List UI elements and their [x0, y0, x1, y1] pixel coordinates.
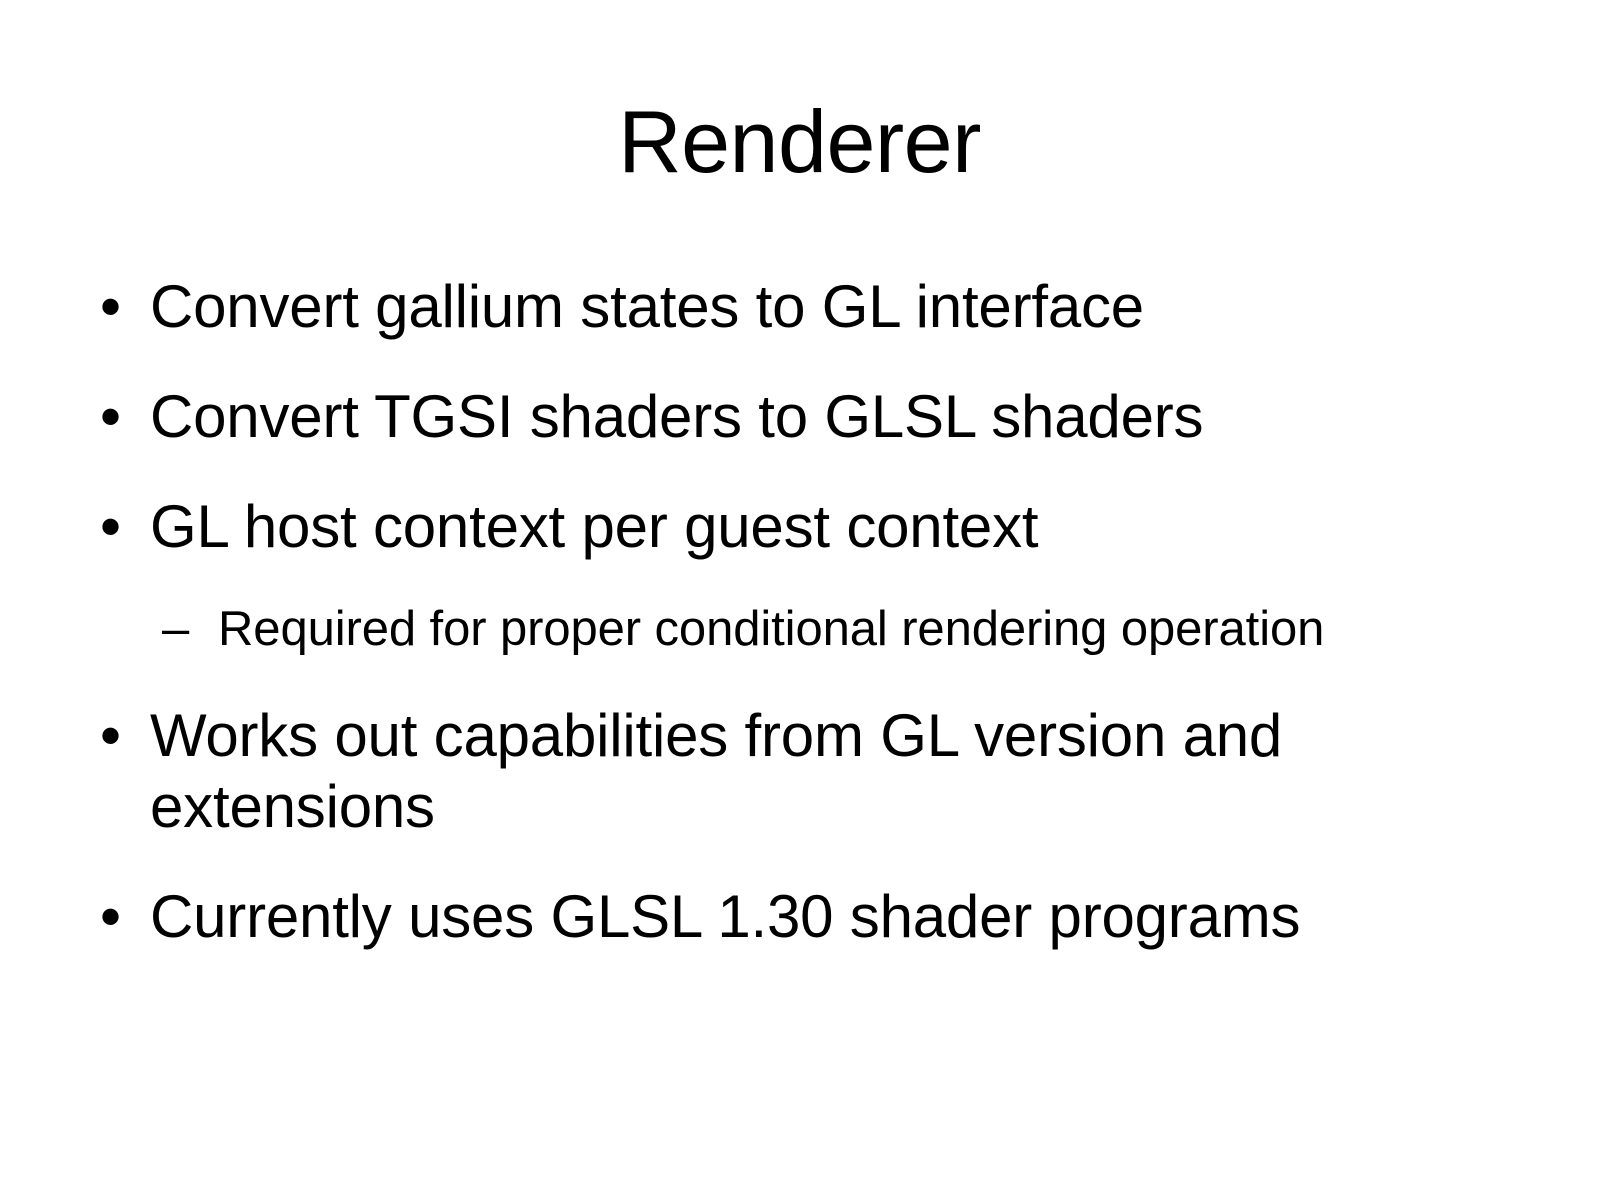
list-item-label: Convert TGSI shaders to GLSL shaders [150, 382, 1520, 453]
list-item: • GL host context per guest context [90, 492, 1520, 563]
bullet-marker-icon: • [100, 882, 140, 953]
list-item-label: Convert gallium states to GL interface [150, 272, 1520, 343]
bullet-marker-icon: • [100, 701, 140, 772]
bullet-marker-icon: • [100, 492, 140, 563]
list-item-label: GL host context per guest context [150, 492, 1520, 563]
bullet-marker-icon: • [100, 382, 140, 453]
list-item-label: Currently uses GLSL 1.30 shader programs [150, 882, 1520, 953]
sub-list-item: – Required for proper conditional render… [90, 601, 1520, 659]
list-item-label: Works out capabilities from GL version a… [150, 701, 1520, 843]
list-item: • Works out capabilities from GL version… [90, 701, 1520, 843]
page-title: Renderer [0, 96, 1599, 188]
dash-marker-icon: – [162, 601, 202, 659]
bullet-marker-icon: • [100, 272, 140, 343]
bullet-list: • Convert gallium states to GL interface… [90, 272, 1520, 992]
list-item: • Convert gallium states to GL interface [90, 272, 1520, 343]
sub-list-item-label: Required for proper conditional renderin… [218, 601, 1520, 659]
presentation-slide: Renderer • Convert gallium states to GL … [0, 0, 1599, 1199]
list-item: • Currently uses GLSL 1.30 shader progra… [90, 882, 1520, 953]
list-item: • Convert TGSI shaders to GLSL shaders [90, 382, 1520, 453]
